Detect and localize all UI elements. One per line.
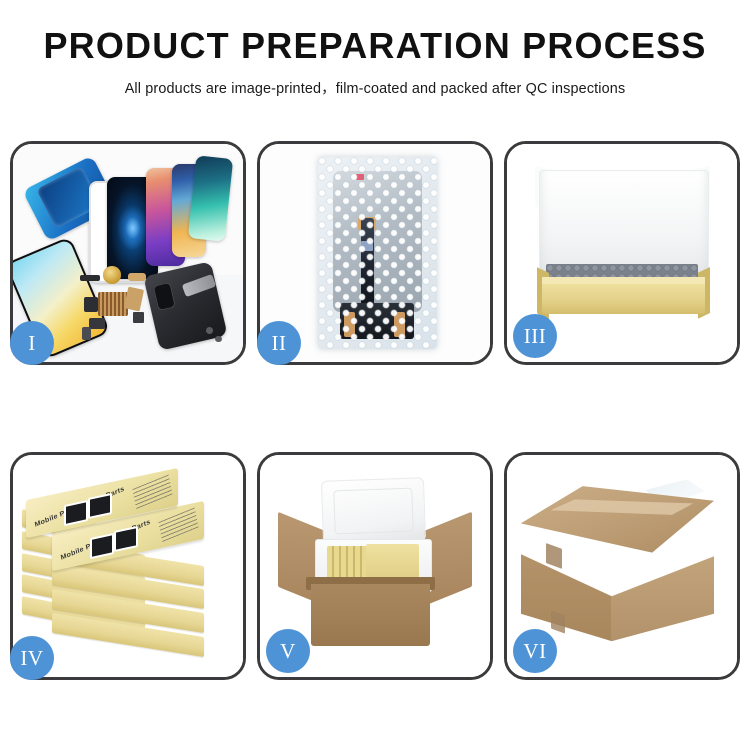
step-badge-5: V	[266, 629, 310, 673]
kraft-box-front	[542, 284, 705, 315]
page-header: PRODUCT PREPARATION PROCESS All products…	[0, 0, 750, 98]
camera-module-part	[84, 297, 98, 312]
step-badge-2: II	[257, 321, 301, 365]
step-badge-3: III	[513, 314, 557, 358]
step-badge-1: I	[10, 321, 54, 365]
screw-part-1	[206, 327, 213, 334]
foam-lid-open	[321, 478, 426, 546]
box-stack: Mobile Phone Spare Parts Mobile Phone Sp…	[22, 477, 234, 659]
process-step-panel-3[interactable]: III	[504, 141, 740, 365]
step-badge-6: VI	[513, 629, 557, 673]
process-step-panel-1[interactable]: I	[10, 141, 246, 365]
flex-cable-part-1	[80, 275, 101, 282]
lid-screen-window-2b	[114, 527, 138, 553]
page-subtitle: All products are image-printed，film-coat…	[0, 77, 750, 98]
lid-screen-window-2a	[90, 533, 114, 559]
process-step-panel-4[interactable]: Mobile Phone Spare Parts Mobile Phone Sp…	[10, 452, 246, 680]
process-step-panel-5[interactable]: V	[257, 452, 493, 680]
sim-tray-part	[133, 312, 145, 323]
lid-screen-window-1b	[89, 494, 113, 520]
button-part	[82, 327, 91, 340]
gold-coil-part	[103, 266, 121, 283]
lid-spec-lines-2	[158, 508, 198, 543]
speaker-part	[89, 318, 105, 329]
bubble-wrap-bag	[318, 157, 438, 349]
step-badge-4: IV	[10, 636, 54, 680]
lid-screen-window-1a	[64, 500, 88, 526]
bubble-texture	[318, 157, 438, 349]
carton-front-wall	[311, 584, 431, 646]
process-step-panel-2[interactable]: II	[257, 141, 493, 365]
process-step-grid: I II	[10, 141, 740, 680]
page-title: PRODUCT PREPARATION PROCESS	[0, 27, 750, 65]
process-step-panel-6[interactable]: VI	[504, 452, 740, 680]
flex-cable-part-2	[128, 273, 146, 282]
lid-spec-lines-1	[133, 476, 173, 511]
